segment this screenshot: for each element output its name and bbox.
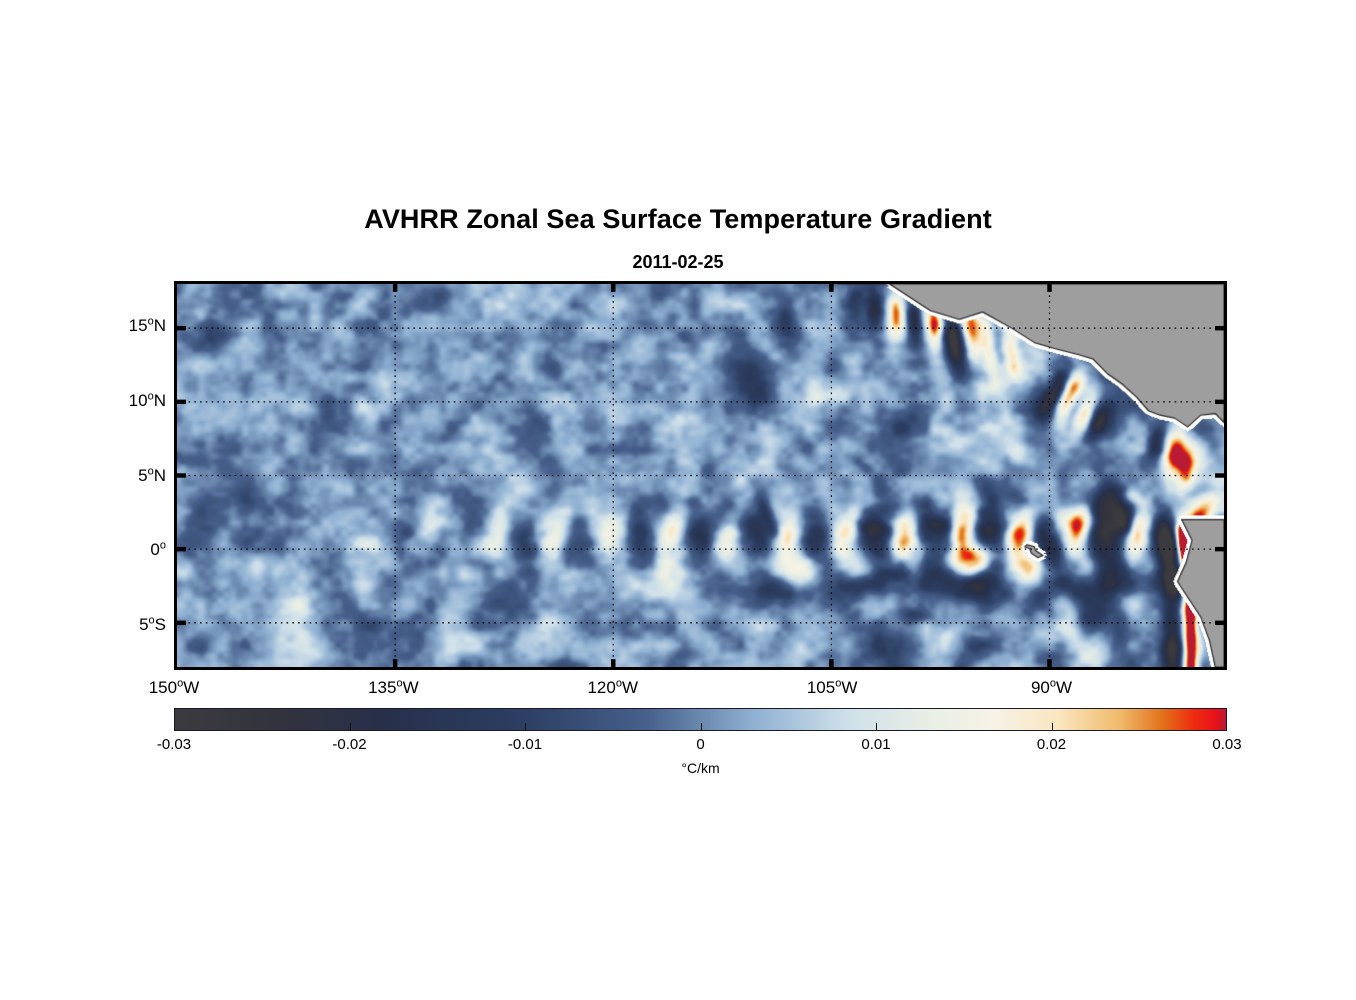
page-title: AVHRR Zonal Sea Surface Temperature Grad…: [0, 204, 1356, 235]
colorbar-tick-label: -0.01: [508, 736, 542, 753]
map-plot-area: [174, 281, 1227, 670]
y-tick-label: 10oN: [129, 391, 166, 411]
x-tick-label: 135oW: [368, 678, 419, 698]
colorbar-tick: [876, 723, 877, 731]
colorbar-tick-label: 0.01: [861, 736, 890, 753]
colorbar-tick: [1052, 723, 1053, 731]
colorbar-tick-label: -0.03: [157, 736, 191, 753]
colorbar-units-label: °C/km: [174, 760, 1227, 776]
colorbar-tick: [350, 723, 351, 731]
grid-lines: [177, 284, 1224, 667]
colorbar-tick-label: 0: [696, 736, 704, 753]
x-tick-label: 105oW: [807, 678, 858, 698]
colorbar-tick-label: -0.02: [332, 736, 366, 753]
x-axis-labels: 150oW135oW120oW105oW90oW: [174, 678, 1227, 704]
colorbar-tick-label: 0.02: [1037, 736, 1066, 753]
colorbar-tick: [525, 723, 526, 731]
colorbar: [174, 708, 1227, 731]
x-tick-label: 150oW: [149, 678, 200, 698]
y-tick-label: 5oS: [139, 615, 166, 635]
colorbar-tick: [701, 723, 702, 731]
colorbar-tick-label: 0.03: [1212, 736, 1241, 753]
figure-container: AVHRR Zonal Sea Surface Temperature Grad…: [0, 0, 1356, 1000]
y-axis-labels: 15oN10oN5oN0o5oS: [84, 281, 166, 670]
x-tick-label: 120oW: [587, 678, 638, 698]
colorbar-tick-labels: -0.03-0.02-0.0100.010.020.03: [174, 736, 1227, 758]
y-tick-label: 0o: [150, 540, 166, 560]
x-tick-label: 90oW: [1031, 678, 1072, 698]
figure-subtitle: 2011-02-25: [0, 252, 1356, 273]
y-tick-label: 5oN: [138, 466, 166, 486]
y-tick-label: 15oN: [129, 316, 166, 336]
